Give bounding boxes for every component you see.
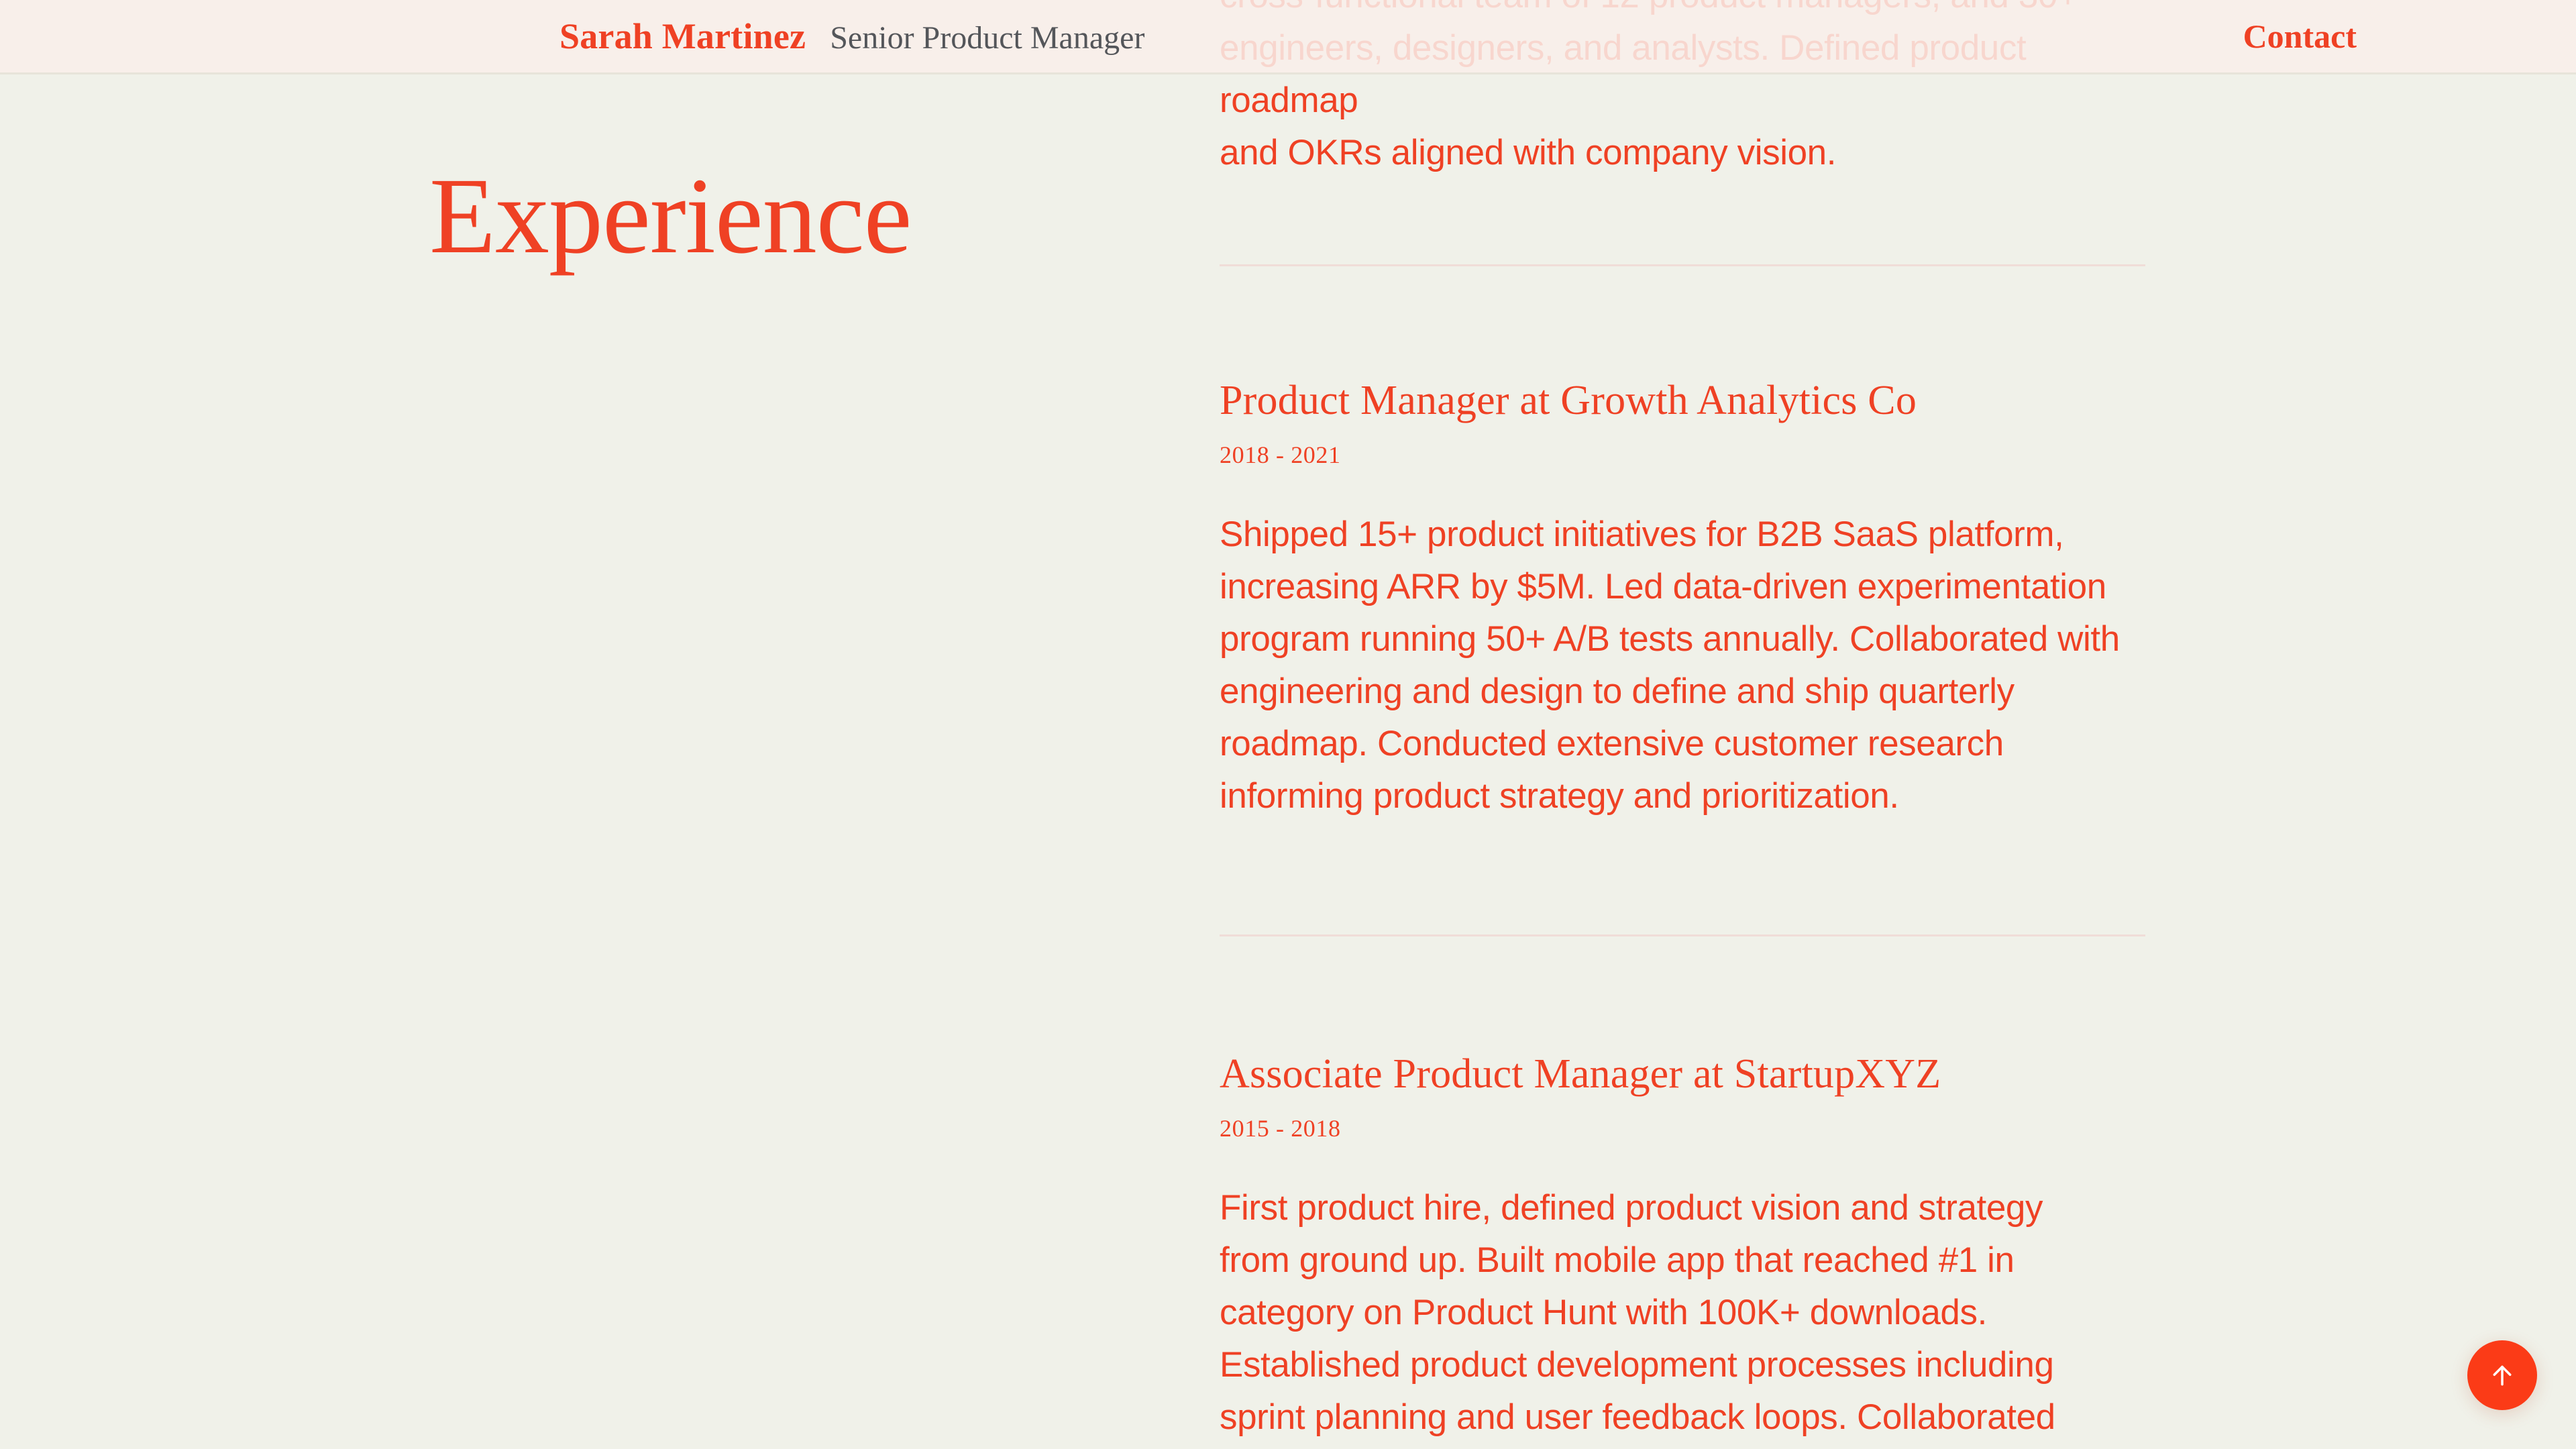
spacer <box>1220 1140 2122 1182</box>
brand-role: Senior Product Manager <box>830 22 1144 54</box>
entry-dates: 2015 - 2018 <box>1220 1116 2122 1140</box>
entry-divider <box>1220 934 2145 936</box>
entry-body: Shipped 15+ product initiatives for B2B … <box>1220 508 2122 822</box>
left-column: Experience <box>0 0 1207 1449</box>
entry-divider <box>1220 264 2145 266</box>
brand[interactable]: Sarah Martinez Senior Product Manager <box>559 18 1144 54</box>
entry-body: First product hire, defined product visi… <box>1220 1182 2122 1449</box>
experience-entry-startupxyz: Associate Product Manager at StartupXYZ … <box>1220 1051 2122 1449</box>
entry-title: Product Manager at Growth Analytics Co <box>1220 378 2122 424</box>
brand-name[interactable]: Sarah Martinez <box>559 18 806 54</box>
site-header: Sarah Martinez Senior Product Manager Co… <box>0 0 2576 74</box>
spacer <box>1220 467 2122 508</box>
experience-entry-growth-analytics: Product Manager at Growth Analytics Co 2… <box>1220 378 2122 822</box>
entry-body-line-2: and OKRs aligned with company vision. <box>1220 127 2122 179</box>
entry-title: Associate Product Manager at StartupXYZ <box>1220 1051 2122 1097</box>
entry-dates: 2018 - 2021 <box>1220 443 2122 467</box>
scroll-to-top-button[interactable] <box>2467 1340 2537 1410</box>
page-root: Experience cross-functional team of 12 p… <box>0 0 2576 1449</box>
arrow-up-icon <box>2487 1360 2517 1390</box>
page-title: Experience <box>429 162 912 271</box>
nav-link-contact[interactable]: Contact <box>2243 19 2357 53</box>
